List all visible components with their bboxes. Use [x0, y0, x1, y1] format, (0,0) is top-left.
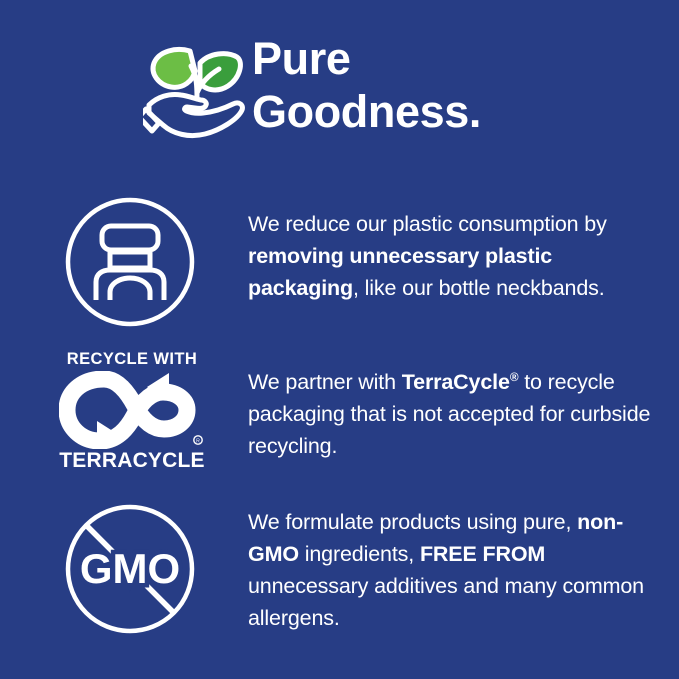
claim-text-gmo-part-2: ingredients, [299, 542, 420, 566]
claim-text-plastic-part-2: , like our bottle neckbands. [353, 276, 605, 300]
no-gmo-label: GMO [80, 545, 180, 592]
recycle-infinity-arrows-icon: R [59, 371, 205, 449]
bottle-neckband-circle-icon [64, 196, 196, 333]
page-title: Pure Goodness. [252, 32, 652, 138]
claim-row-terracycle: RECYCLE WITH R TERRACYCLE [0, 350, 679, 475]
claim-text-gmo-part-4: unnecessary additives and many common al… [248, 574, 644, 630]
claim-text-plastic-part-0: We reduce our plastic consumption by [248, 212, 607, 236]
terracycle-logo-bottom-text: TERRACYCLE [58, 449, 206, 473]
claim-row-plastic: We reduce our plastic consumption by rem… [0, 196, 679, 326]
header: Pure Goodness. [0, 0, 679, 175]
claim-text-terracycle-part-1: TerraCycle [402, 370, 510, 394]
claim-text-plastic: We reduce our plastic consumption by rem… [248, 208, 663, 304]
svg-text:R: R [196, 439, 200, 445]
pure-goodness-infographic: Pure Goodness. We reduce our plastic con… [0, 0, 679, 679]
claim-row-gmo: GMO GMO We formulate products using pure… [0, 498, 679, 638]
hand-holding-sprout-icon [143, 33, 251, 141]
terracycle-logo-top-text: RECYCLE WITH [58, 350, 206, 369]
claim-text-gmo: We formulate products using pure, non-GM… [248, 506, 663, 634]
no-gmo-circle-icon: GMO GMO [64, 503, 196, 640]
claim-text-terracycle-part-0: We partner with [248, 370, 402, 394]
claim-text-terracycle: We partner with TerraCycle® to recycle p… [248, 366, 663, 462]
terracycle-logo: RECYCLE WITH R TERRACYCLE [58, 350, 206, 474]
claim-text-gmo-part-0: We formulate products using pure, [248, 510, 577, 534]
claim-text-gmo-part-3: FREE FROM [420, 542, 545, 566]
